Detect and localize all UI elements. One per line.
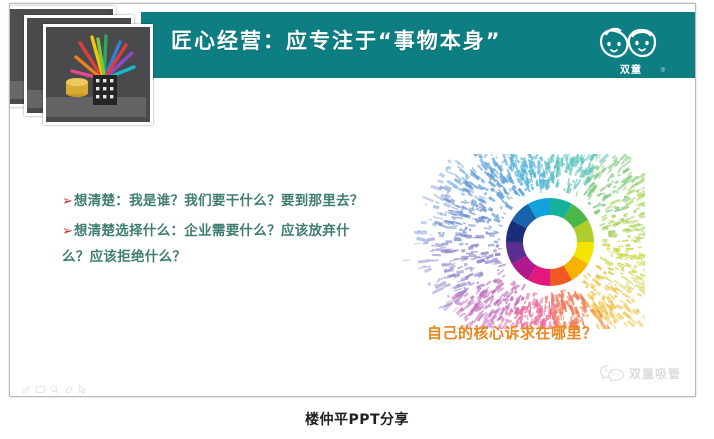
registered-mark: ® — [661, 68, 665, 74]
bullet-text-continuation: 么？应该拒绝什么？ — [62, 245, 392, 265]
photo-thumbnail — [43, 24, 153, 125]
eraser-icon[interactable] — [64, 381, 73, 390]
list-item: ➢ 想清楚选择什么：企业需要什么？应该放弃什 么？应该拒绝什么？ — [62, 224, 392, 264]
watermark-label: 双童吸管 — [629, 365, 681, 382]
arrow-bullet-icon: ➢ — [62, 194, 73, 210]
list-item: ➢ 想清楚：我是谁？我们要干什么？要到那里去？ — [62, 194, 392, 210]
arrow-bullet-icon: ➢ — [62, 224, 73, 240]
photo-thumbnail-image — [46, 27, 150, 122]
pen-icon[interactable] — [22, 381, 31, 390]
page-caption: 楼仲平PPT分享 — [0, 409, 714, 429]
wechat-icon — [599, 364, 625, 382]
pointer-icon[interactable] — [78, 381, 87, 390]
graphic-caption: 自己的核心诉求在哪里？ — [427, 322, 598, 343]
color-wheel-product-burst-graphic — [395, 154, 645, 329]
brand-logo: 双童 ® — [585, 17, 677, 75]
bullet-text: 想清楚：我是谁？我们要干什么？要到那里去？ — [74, 194, 364, 210]
wechat-watermark: 双童吸管 — [599, 364, 681, 382]
page-root: 匠心经营：应专注于“事物本身” — [0, 0, 714, 439]
slide-icon[interactable] — [36, 381, 45, 390]
brand-name: 双童 — [620, 61, 642, 76]
bullet-text: 想清楚选择什么：企业需要什么？应该放弃什 — [74, 224, 350, 240]
slide-title: 匠心经营：应专注于“事物本身” — [171, 25, 502, 55]
slide-title-band: 匠心经营：应专注于“事物本身” — [141, 12, 695, 78]
magnifier-icon[interactable] — [50, 381, 59, 390]
photo-thumbnail-stack — [9, 6, 151, 124]
color-wheel-graphic — [395, 154, 645, 329]
bullet-list: ➢ 想清楚：我是谁？我们要干什么？要到那里去？ ➢ 想清楚选择什么：企业需要什么… — [62, 194, 392, 265]
ink-annotation-toolbar[interactable] — [22, 381, 87, 390]
presentation-slide: 匠心经营：应专注于“事物本身” — [9, 3, 696, 397]
